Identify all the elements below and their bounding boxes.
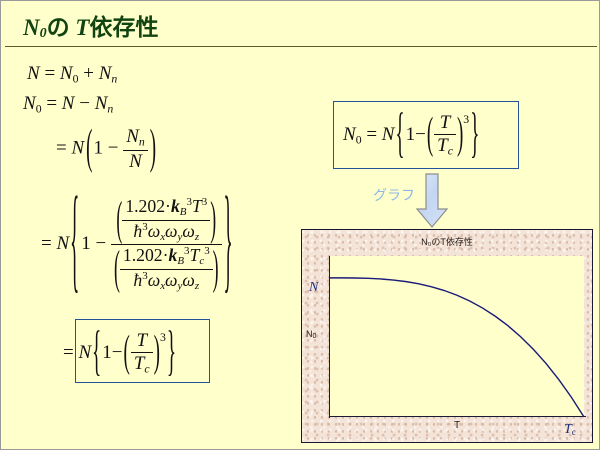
chart-y-top-label: N — [309, 280, 318, 296]
eqr-fraction: TTc — [434, 113, 456, 158]
eqr-fraction-numerator: T — [434, 113, 456, 134]
eqr-paren-open: ( — [427, 117, 433, 153]
eq5-minus: − — [112, 342, 123, 363]
eq5-fraction-denominator: Tc — [131, 352, 153, 376]
eq4-num-paren-close: ) — [210, 199, 216, 237]
chart-x-axis-label: T — [454, 420, 460, 431]
eq2-lhs: N — [23, 93, 36, 114]
chart-panel: N₀のT依存性 N N0 T Tc — [301, 229, 593, 443]
eq4-top-denominator: ħ3ωxωyωz — [122, 220, 210, 244]
eq2-term2-sub: n — [107, 102, 113, 115]
eq5-power: 3 — [160, 331, 166, 344]
eq3-fraction: NnN — [123, 127, 148, 172]
eq3-N: N — [71, 138, 84, 159]
eq4-N: N — [56, 233, 69, 254]
eq3-fraction-numerator: Nn — [123, 127, 148, 150]
eq1-plus: + — [83, 63, 94, 84]
chart-y-axis-label-sub: 0 — [313, 333, 317, 340]
eq2-term1: N — [62, 93, 75, 114]
eq4-one: 1 — [81, 233, 91, 254]
eq1-term1: N — [60, 63, 73, 84]
slide-canvas: N0の T依存性 N = N0 + Nn N0 = N − Nn = N(1 −… — [0, 0, 600, 450]
eq4-brace-close: } — [224, 196, 233, 290]
eq4-outer-fraction: (1.202·kB3T3ħ3ωxωyωz) (1.202·kB3Tc3ħ3ωxω… — [111, 197, 222, 292]
eq5-brace-open: { — [92, 331, 101, 375]
eq3-fraction-denominator: N — [123, 150, 148, 172]
equation-condensate-number: N0 = N − Nn — [23, 93, 113, 116]
page-title-subscript: 0 — [40, 26, 47, 41]
equation-factored-form: = N(1 − NnN) — [56, 127, 158, 172]
eq5-fraction-numerator: T — [131, 331, 153, 352]
chart-x-end-label: Tc — [564, 422, 576, 438]
eqr-power: 3 — [463, 113, 469, 126]
eq4-inner-fraction-bottom: 1.202·kB3Tc3ħ3ωxωyωz — [120, 246, 213, 292]
equation-boxed-result-right: N0 = N{1−(TTc)3} — [343, 113, 479, 158]
down-arrow-icon — [415, 173, 449, 229]
eq4-inner-fraction-top: 1.202·kB3T3ħ3ωxωyωz — [122, 197, 210, 243]
eqr-lhs: N — [343, 124, 356, 145]
eqr-fraction-denominator: Tc — [434, 134, 456, 158]
eq4-minus: − — [96, 233, 107, 254]
eq4-den-paren-open: ( — [114, 248, 120, 286]
eq4-outer-denominator: (1.202·kB3Tc3ħ3ωxωyωz) — [111, 244, 222, 292]
eqr-equals: = — [366, 124, 377, 145]
eq5-fraction: TTc — [131, 331, 153, 376]
eq1-term2: N — [99, 63, 112, 84]
eq1-equals: = — [44, 63, 55, 84]
eq5-one: 1 — [102, 342, 112, 363]
eqr-brace-close: } — [470, 113, 479, 157]
eq3-one: 1 — [93, 138, 103, 159]
eqr-minus: − — [415, 124, 426, 145]
eq3-paren-close: ) — [150, 129, 156, 168]
chart-x-end-label-base: T — [564, 422, 572, 437]
eq2-minus: − — [79, 93, 90, 114]
title-divider — [5, 46, 597, 47]
eq5-paren-close: ) — [154, 335, 160, 371]
eqr-one: 1 — [406, 124, 416, 145]
chart-title: N₀のT依存性 — [302, 235, 592, 248]
equation-explicit-ratio: = N{1 − (1.202·kB3T3ħ3ωxωyωz) (1.202·kB3… — [41, 197, 234, 292]
eqr-N: N — [382, 124, 395, 145]
eqr-paren-close: ) — [457, 117, 463, 153]
eq4-bottom-denominator: ħ3ωxωyωz — [120, 269, 213, 293]
eq4-bottom-numerator: 1.202·kB3Tc3 — [120, 246, 213, 269]
equation-boxed-result-left: = N{1−(TTc)3} — [63, 331, 176, 376]
eq3-equals: = — [56, 138, 67, 159]
eq3-paren-open: ( — [86, 129, 92, 168]
graph-annotation-label: グラフ — [373, 185, 415, 205]
eq5-brace-close: } — [167, 331, 176, 375]
page-title: N0の T依存性 — [23, 8, 158, 42]
eq5-N: N — [78, 342, 91, 363]
eq3-minus: − — [108, 138, 119, 159]
equation-total-number: N = N0 + Nn — [27, 63, 117, 86]
page-title-suffix: 依存性 — [89, 15, 158, 40]
eq5-equals: = — [63, 342, 74, 363]
eq4-top-numerator: 1.202·kB3T3 — [122, 197, 210, 220]
page-title-middle: の — [47, 15, 76, 40]
eq1-term2-sub: n — [111, 72, 117, 85]
eq4-num-paren-open: ( — [116, 199, 122, 237]
chart-curve — [329, 256, 585, 418]
eq2-equals: = — [46, 93, 57, 114]
eq4-den-paren-close: ) — [213, 248, 219, 286]
eq5-paren-open: ( — [124, 335, 130, 371]
chart-x-end-label-sub: c — [572, 427, 576, 437]
chart-y-axis-label: N0 — [306, 329, 316, 340]
eqr-brace-open: { — [395, 113, 404, 157]
page-title-base: N — [23, 15, 40, 40]
eq2-term2: N — [95, 93, 108, 114]
page-title-variable: T — [75, 15, 89, 40]
eq4-brace-open: { — [70, 196, 79, 290]
eq1-lhs: N — [27, 63, 40, 84]
eq4-equals: = — [41, 233, 52, 254]
eq4-outer-numerator: (1.202·kB3T3ħ3ωxωyωz) — [111, 197, 222, 244]
